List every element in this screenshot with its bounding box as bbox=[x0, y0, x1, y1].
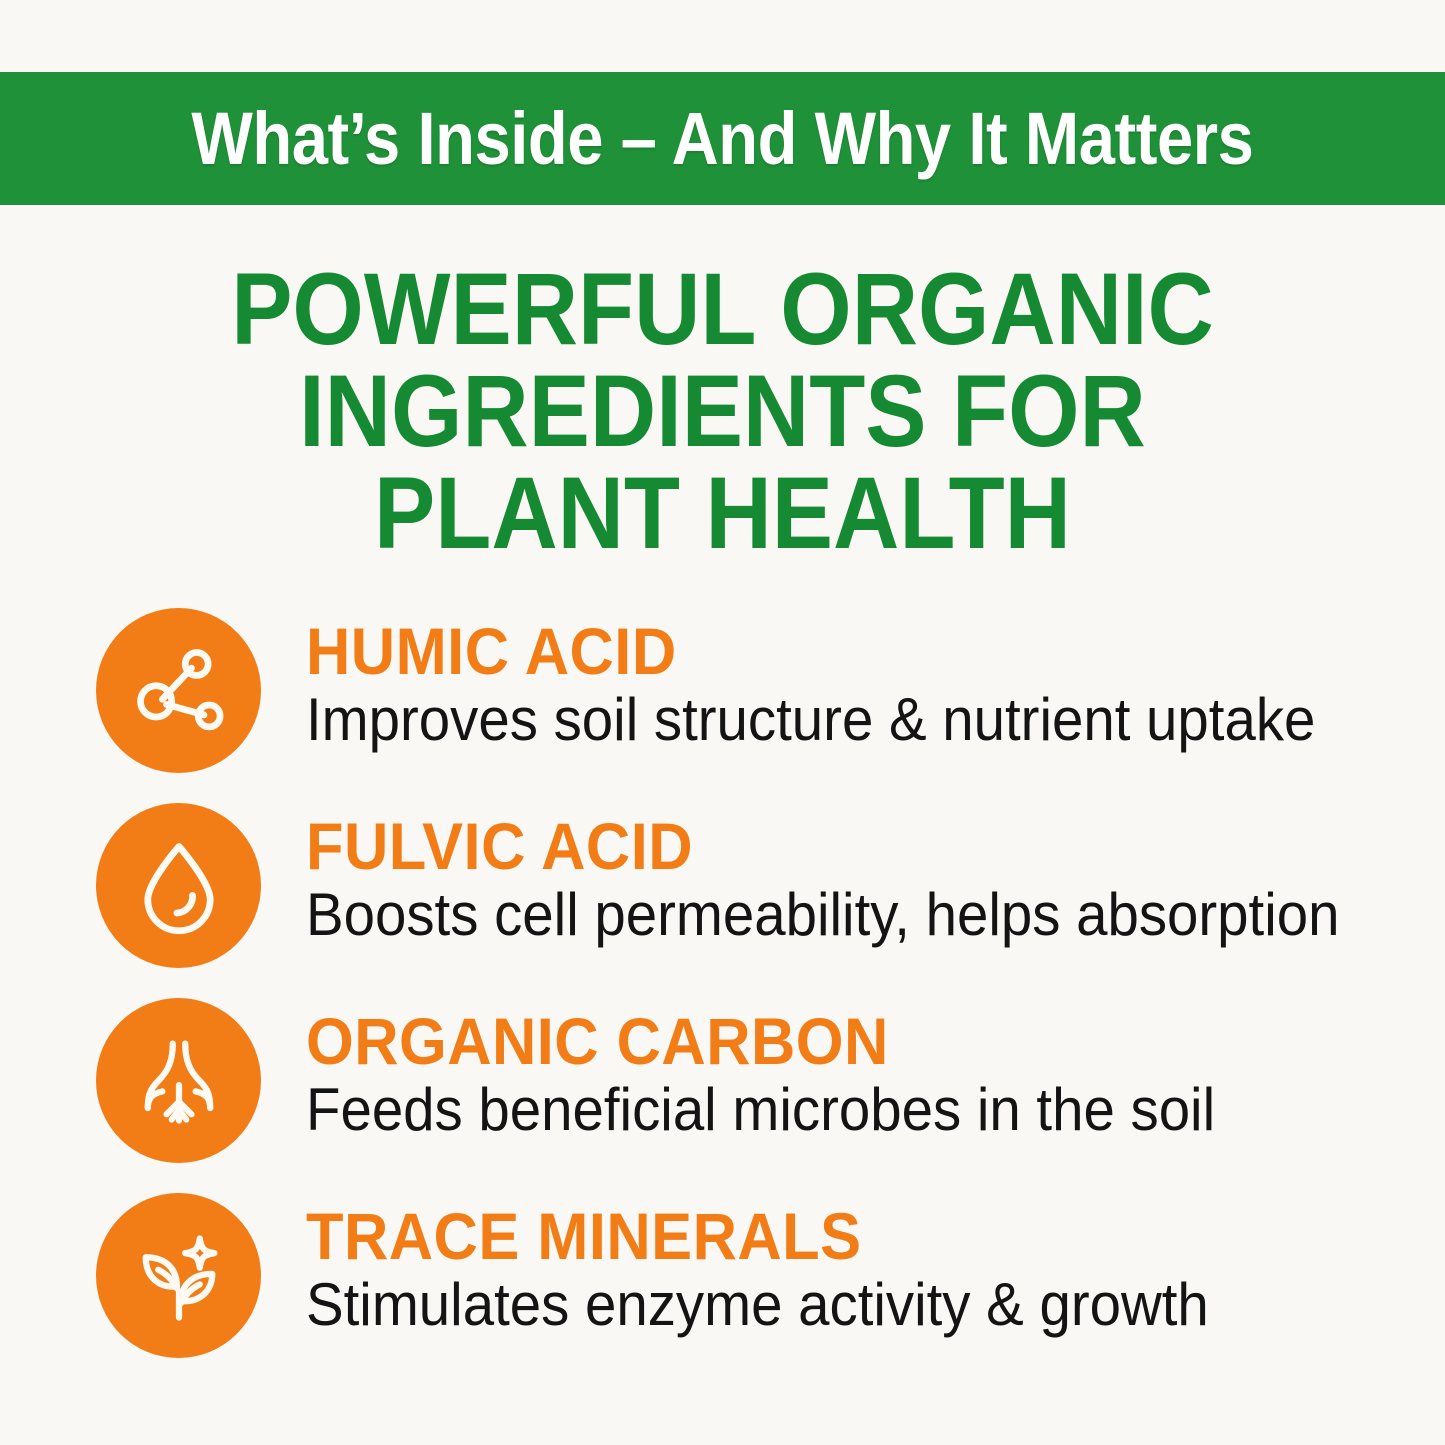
water-drop-icon bbox=[127, 834, 231, 938]
list-item: TRACE MINERALS Stimulates enzyme activit… bbox=[0, 1191, 1445, 1386]
infographic-poster: What’s Inside – And Why It Matters POWER… bbox=[0, 0, 1445, 1445]
ingredient-description: Stimulates enzyme activity & growth bbox=[306, 1271, 1377, 1339]
molecule-icon-badge bbox=[96, 608, 261, 773]
plant-roots-icon-badge bbox=[96, 998, 261, 1163]
page-title: POWERFUL ORGANIC INGREDIENTS FOR PLANT H… bbox=[0, 258, 1445, 564]
ingredient-title: FULVIC ACID bbox=[306, 811, 1365, 881]
ingredient-title: ORGANIC CARBON bbox=[306, 1006, 1365, 1076]
headline-line-1: POWERFUL ORGANIC bbox=[72, 258, 1373, 360]
molecule-icon bbox=[127, 639, 231, 743]
list-item: ORGANIC CARBON Feeds beneficial microbes… bbox=[0, 996, 1445, 1191]
list-item-text: ORGANIC CARBON Feeds beneficial microbes… bbox=[306, 996, 1445, 1144]
headline-line-2: INGREDIENTS FOR bbox=[72, 360, 1373, 462]
list-item-text: HUMIC ACID Improves soil structure & nut… bbox=[306, 606, 1445, 754]
sprout-sparkle-icon bbox=[127, 1224, 231, 1328]
list-item-text: TRACE MINERALS Stimulates enzyme activit… bbox=[306, 1191, 1445, 1339]
list-item-text: FULVIC ACID Boosts cell permeability, he… bbox=[306, 801, 1445, 949]
sprout-sparkle-icon-badge bbox=[96, 1193, 261, 1358]
list-item: HUMIC ACID Improves soil structure & nut… bbox=[0, 606, 1445, 801]
headline-line-3: PLANT HEALTH bbox=[72, 462, 1373, 564]
ingredient-list: HUMIC ACID Improves soil structure & nut… bbox=[0, 606, 1445, 1386]
ingredient-title: TRACE MINERALS bbox=[306, 1201, 1365, 1271]
ingredient-description: Improves soil structure & nutrient uptak… bbox=[306, 686, 1377, 754]
ingredient-description: Boosts cell permeability, helps absorpti… bbox=[306, 881, 1377, 949]
ingredient-description: Feeds beneficial microbes in the soil bbox=[306, 1076, 1377, 1144]
banner-title: What’s Inside – And Why It Matters bbox=[191, 102, 1253, 176]
ingredient-title: HUMIC ACID bbox=[306, 616, 1365, 686]
water-drop-icon-badge bbox=[96, 803, 261, 968]
plant-roots-icon bbox=[127, 1029, 231, 1133]
list-item: FULVIC ACID Boosts cell permeability, he… bbox=[0, 801, 1445, 996]
header-banner: What’s Inside – And Why It Matters bbox=[0, 72, 1445, 205]
